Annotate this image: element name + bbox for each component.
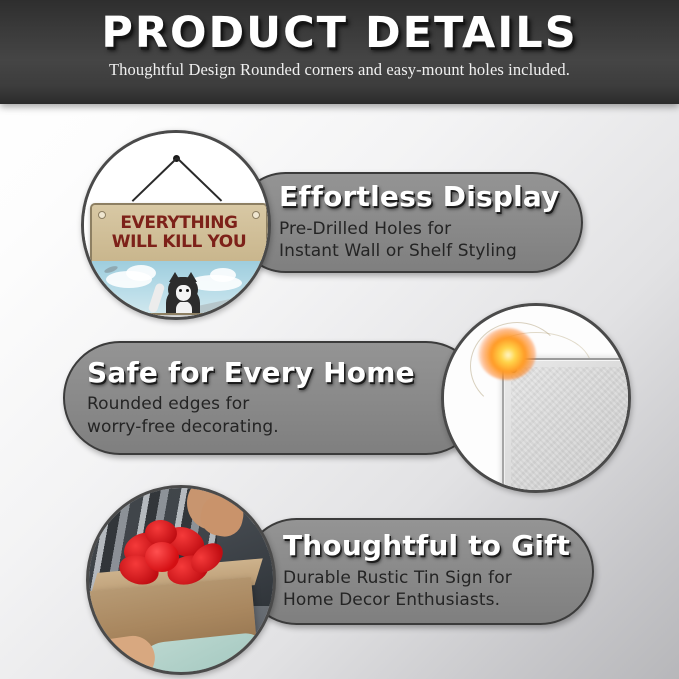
feature-3-title: Thoughtful to Gift bbox=[283, 531, 578, 561]
hanging-tin-sign-photo: EVERYTHING WILL KILL YOU bbox=[81, 130, 271, 320]
feature-3-text-panel: Thoughtful to Gift Durable Rustic Tin Si… bbox=[243, 518, 594, 625]
feature-2-text-panel: Safe for Every Home Rounded edges for wo… bbox=[63, 341, 483, 455]
tin-sign-plate: EVERYTHING WILL KILL YOU bbox=[90, 203, 268, 315]
feature-3-line-2: Home Decor Enthusiasts. bbox=[283, 589, 578, 612]
product-details-infographic: PRODUCT DETAILS Thoughtful Design Rounde… bbox=[0, 0, 679, 679]
feature-1-line-1: Pre-Drilled Holes for bbox=[279, 218, 565, 241]
corner-glow-highlight bbox=[478, 328, 536, 380]
rounded-metal-corner-photo bbox=[441, 303, 631, 493]
red-bow bbox=[145, 542, 179, 572]
header-subtitle: Thoughtful Design Rounded corners and ea… bbox=[0, 60, 679, 80]
sign-text-line-1: EVERYTHING bbox=[120, 215, 237, 232]
header-banner: PRODUCT DETAILS Thoughtful Design Rounde… bbox=[0, 0, 679, 104]
feature-1-title: Effortless Display bbox=[279, 182, 565, 212]
feature-3-line-1: Durable Rustic Tin Sign for bbox=[283, 567, 578, 590]
feature-2-line-1: Rounded edges for bbox=[87, 393, 421, 416]
sign-text-line-2: WILL KILL YOU bbox=[112, 234, 247, 251]
page-title: PRODUCT DETAILS bbox=[0, 8, 679, 58]
gift-box-with-red-bow-photo bbox=[86, 485, 276, 675]
feature-1-line-2: Instant Wall or Shelf Styling bbox=[279, 240, 565, 263]
feature-2-line-2: worry-free decorating. bbox=[87, 416, 421, 439]
feature-2-title: Safe for Every Home bbox=[87, 358, 421, 388]
feature-1-text-panel: Effortless Display Pre-Drilled Holes for… bbox=[235, 172, 583, 273]
